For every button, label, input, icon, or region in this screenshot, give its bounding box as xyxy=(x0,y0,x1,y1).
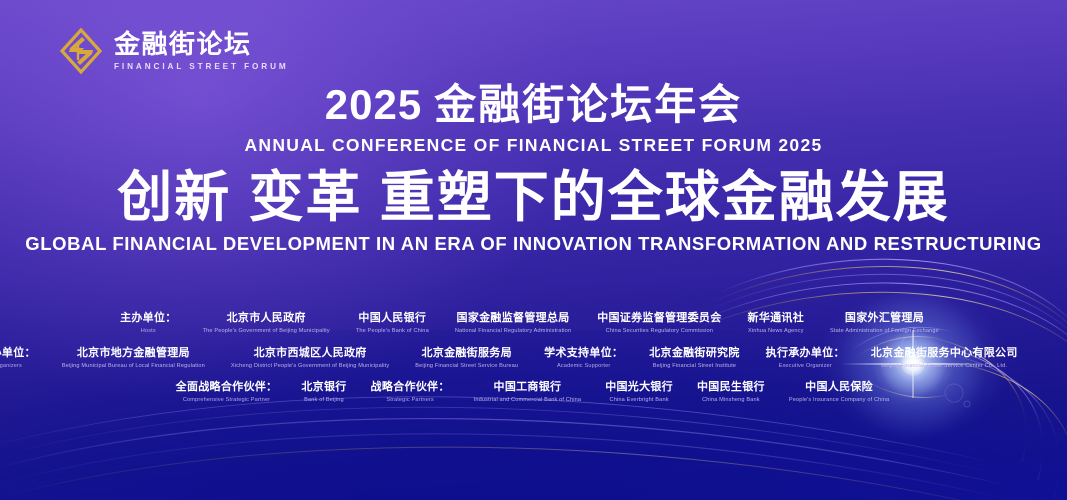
sponsor-cn: 新华通讯社 xyxy=(748,312,805,326)
sponsor-en: Xicheng District People's Government of … xyxy=(231,363,389,370)
sponsor-label-hosts: 主办单位： Hosts xyxy=(107,312,190,336)
sponsor-item: 新华通讯社 Xinhua News Agency xyxy=(735,312,818,336)
sponsor-cn: 中国工商银行 xyxy=(474,381,582,395)
sponsor-label-comprehensive-strategic-partner: 全面战略合作伙伴： Comprehensive Strategic Partne… xyxy=(164,381,290,405)
sponsor-en: People's Insurance Company of China xyxy=(789,397,890,404)
sponsor-cn: 战略合作伙伴： xyxy=(371,381,450,395)
conference-title-chinese: 2025金融街论坛年会 xyxy=(0,84,1067,126)
sponsor-en: China Everbright Bank xyxy=(605,397,673,404)
sponsor-item: 国家外汇管理局 State Administration of Foreign … xyxy=(817,312,952,336)
sponsor-cn: 北京市西城区人民政府 xyxy=(231,347,389,361)
sponsor-cn: 中国人民银行 xyxy=(356,312,429,326)
sponsor-cn: 北京金融街研究院 xyxy=(649,347,739,361)
sponsor-item: 中国人民保险 People's Insurance Company of Chi… xyxy=(777,381,902,405)
sponsor-item: 中国证券监督管理委员会 China Securities Regulatory … xyxy=(584,312,734,336)
sponsor-item: 北京金融街服务中心有限公司 Beijing Financial Street S… xyxy=(858,347,1031,371)
sponsor-cn: 北京银行 xyxy=(301,381,346,395)
sponsor-en: China Securities Regulatory Commission xyxy=(597,328,721,335)
sponsor-item: 中国人民银行 The People's Bank of China xyxy=(343,312,442,336)
sponsor-cn: 中国人民保险 xyxy=(789,381,890,395)
sponsor-en: Xinhua News Agency xyxy=(748,328,805,335)
conference-title-english: ANNUAL CONFERENCE OF FINANCIAL STREET FO… xyxy=(0,135,1067,156)
theme-english: GLOBAL FINANCIAL DEVELOPMENT IN AN ERA O… xyxy=(0,233,1067,255)
sponsor-item: 中国工商银行 Industrial and Commercial Bank of… xyxy=(462,381,594,405)
sponsor-cn: 中国证券监督管理委员会 xyxy=(597,312,721,326)
sponsor-item: 北京金融街研究院 Beijing Financial Street Instit… xyxy=(636,347,752,371)
sponsor-en: Bank of Beijing xyxy=(301,397,346,404)
forum-logo: 金融街论坛 FINANCIAL STREET FORUM xyxy=(58,26,289,76)
sponsor-en: Beijing Financial Street Institute xyxy=(649,363,739,370)
sponsor-cn: 主办单位： xyxy=(120,312,177,326)
sponsor-cn: 学术支持单位： xyxy=(544,347,623,361)
sponsor-row-partners: 全面战略合作伙伴： Comprehensive Strategic Partne… xyxy=(164,381,902,405)
sponsor-cn: 国家外汇管理局 xyxy=(830,312,939,326)
sponsor-item: 北京银行 Bank of Beijing xyxy=(289,381,358,405)
sponsor-item: 中国光大银行 China Everbright Bank xyxy=(593,381,685,405)
sponsor-en: The People's Government of Beijing Munic… xyxy=(203,328,330,335)
sponsor-en: Organizers xyxy=(0,363,36,370)
sponsor-en: State Administration of Foreign Exchange xyxy=(830,328,939,335)
sponsor-label-academic-supporter: 学术支持单位： Academic Supporter xyxy=(531,347,636,371)
sponsor-cn: 北京市人民政府 xyxy=(203,312,330,326)
sponsor-item: 中国民生银行 China Minsheng Bank xyxy=(685,381,777,405)
sponsor-item: 北京金融街服务局 Beijing Financial Street Servic… xyxy=(402,347,531,371)
sponsor-cn: 全面战略合作伙伴： xyxy=(176,381,278,395)
financial-street-forum-diamond-emblem xyxy=(58,26,104,76)
logo-english-name: FINANCIAL STREET FORUM xyxy=(114,62,289,71)
sponsor-en: Beijing Financial Street Service Bureau xyxy=(415,363,518,370)
sponsor-cn: 执行承办单位： xyxy=(766,347,845,361)
sponsor-cn: 北京金融街服务局 xyxy=(415,347,518,361)
theme-chinese: 创新 变革 重塑下的全球金融发展 xyxy=(0,168,1067,227)
sponsor-item: 北京市地方金融管理局 Beijing Municipal Bureau of L… xyxy=(49,347,218,371)
sponsor-cn: 北京市地方金融管理局 xyxy=(62,347,205,361)
sponsor-cn: 中国光大银行 xyxy=(605,381,673,395)
sponsor-label-organizers: 承办单位： Organizers xyxy=(0,347,49,371)
sponsor-row-hosts: 主办单位： Hosts 北京市人民政府 The People's Governm… xyxy=(107,312,952,336)
sponsor-en: Academic Supporter xyxy=(544,363,623,370)
logo-chinese-name: 金融街论坛 xyxy=(114,31,289,58)
sponsor-row-organizers: 承办单位： Organizers 北京市地方金融管理局 Beijing Muni… xyxy=(0,347,1031,371)
sponsor-label-executive-organizer: 执行承办单位： Executive Organizer xyxy=(753,347,858,371)
sponsor-cn: 中国民生银行 xyxy=(697,381,765,395)
theme-block: 创新 变革 重塑下的全球金融发展 GLOBAL FINANCIAL DEVELO… xyxy=(0,168,1067,255)
sponsor-en: Beijing Municipal Bureau of Local Financ… xyxy=(62,363,205,370)
sponsor-item: 北京市人民政府 The People's Government of Beiji… xyxy=(190,312,343,336)
sponsor-en: Beijing Financial Street Service Center … xyxy=(871,363,1018,370)
sponsor-en: Strategic Partners xyxy=(371,397,450,404)
sponsor-item: 北京市西城区人民政府 Xicheng District People's Gov… xyxy=(218,347,402,371)
sponsor-en: Executive Organizer xyxy=(766,363,845,370)
sponsor-en: Hosts xyxy=(120,328,177,335)
sponsor-en: Comprehensive Strategic Partner xyxy=(176,397,278,404)
sponsor-en: China Minsheng Bank xyxy=(697,397,765,404)
sponsor-label-strategic-partners: 战略合作伙伴： Strategic Partners xyxy=(359,381,462,405)
conference-name-chinese: 金融街论坛年会 xyxy=(434,81,742,128)
event-backdrop-poster: 金融街论坛 FINANCIAL STREET FORUM 2025金融街论坛年会… xyxy=(0,0,1067,500)
sponsor-credits: 主办单位： Hosts 北京市人民政府 The People's Governm… xyxy=(0,312,1067,405)
conference-title-block: 2025金融街论坛年会 ANNUAL CONFERENCE OF FINANCI… xyxy=(0,84,1067,156)
sponsor-cn: 北京金融街服务中心有限公司 xyxy=(871,347,1018,361)
sponsor-cn: 国家金融监督管理总局 xyxy=(455,312,571,326)
sponsor-en: Industrial and Commercial Bank of China xyxy=(474,397,582,404)
conference-year: 2025 xyxy=(325,81,422,128)
sponsor-en: National Financial Regulatory Administra… xyxy=(455,328,571,335)
sponsor-cn: 承办单位： xyxy=(0,347,36,361)
sponsor-en: The People's Bank of China xyxy=(356,328,429,335)
sponsor-item: 国家金融监督管理总局 National Financial Regulatory… xyxy=(442,312,584,336)
